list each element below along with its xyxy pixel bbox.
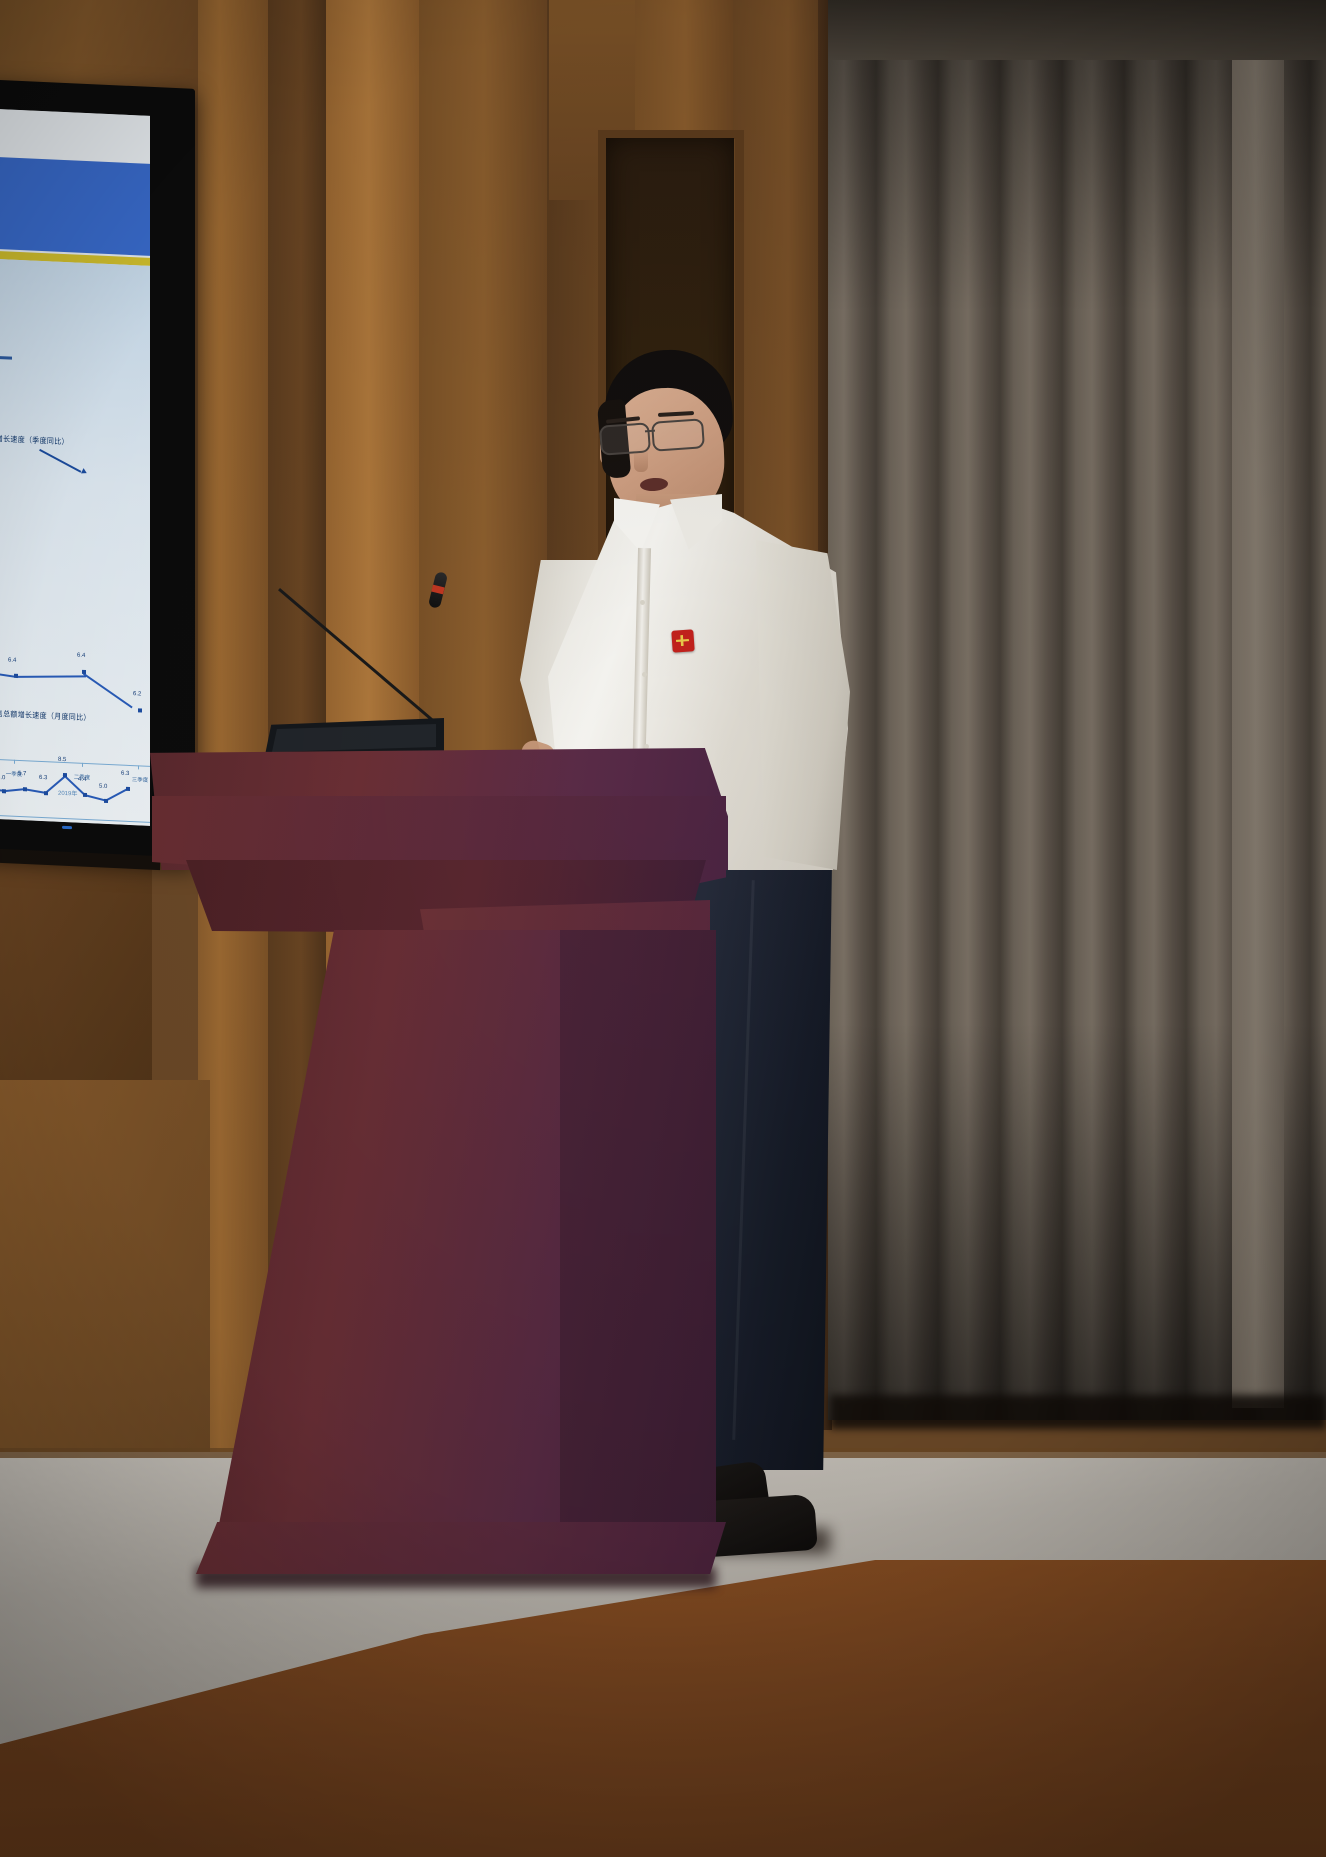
press-conference-photo: 国内生产总值增长速度（季度同比） 6.4 6.4 6.2 一季度 二季度 三季度… — [0, 0, 1326, 1857]
podium-column-shadow-side — [560, 930, 716, 1550]
podium-base — [196, 1522, 726, 1574]
shirt-button — [642, 672, 647, 677]
shirt-button — [640, 600, 645, 605]
shirt-button — [644, 744, 649, 749]
speaker-nose — [634, 448, 648, 472]
eyeglasses-right-lens — [651, 418, 705, 452]
